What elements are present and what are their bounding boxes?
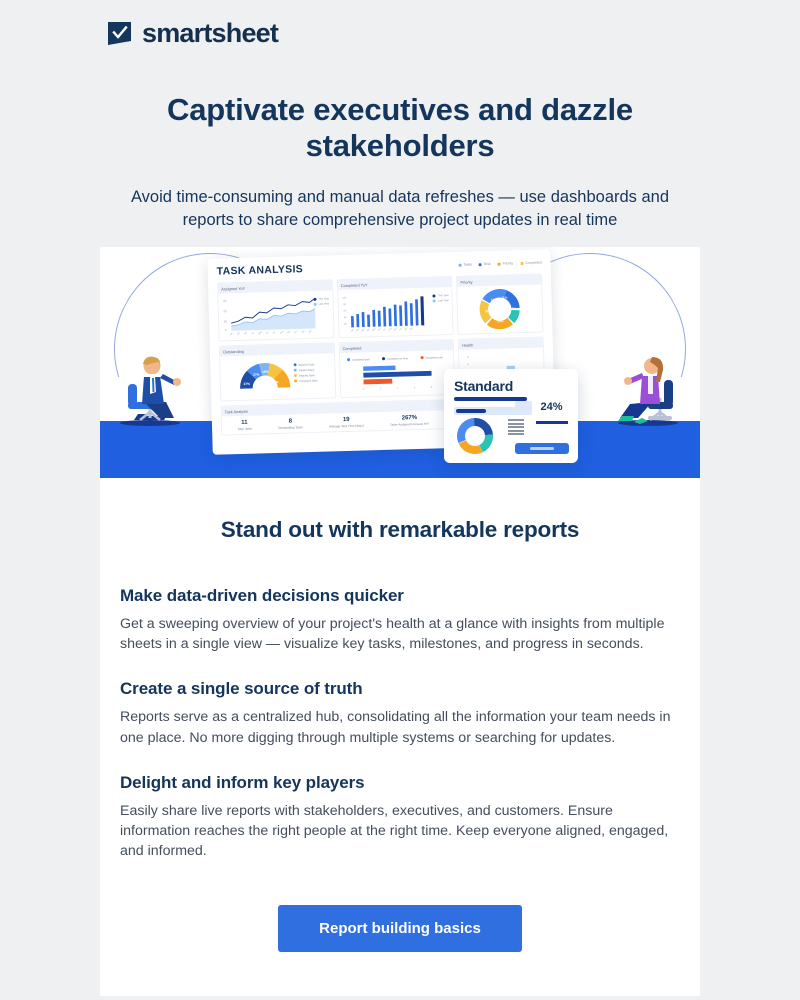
feature-body: Reports serve as a centralized hub, cons… — [120, 707, 680, 747]
svg-text:0: 0 — [225, 328, 227, 332]
stat-label: Total Tasks — [237, 427, 252, 431]
checkmark-flag-icon — [106, 20, 133, 47]
seated-businessman-illustration — [114, 340, 192, 431]
svg-text:Feb: Feb — [356, 328, 360, 333]
svg-text:Completed Tasks: Completed Tasks — [299, 379, 318, 383]
legend-item: Priority — [498, 261, 514, 265]
panel-completed: Completed Completed Early Completed on T… — [338, 339, 455, 398]
stat-value: 19 — [329, 417, 364, 424]
panel-outstanding: Outstanding 27% 27% — [219, 342, 336, 401]
svg-text:17%: 17% — [491, 298, 498, 302]
series-legend: This Year Last Year — [313, 297, 329, 305]
stat-label: Outstanding Tasks — [278, 425, 303, 430]
legend-item: Completed — [520, 260, 542, 265]
feature-item: Create a single source of truth Reports … — [120, 679, 680, 747]
feature-body: Easily share live reports with stakehold… — [120, 801, 680, 862]
svg-text:Feb: Feb — [237, 331, 241, 336]
stat-outstanding-tasks: 8 Outstanding Tasks — [278, 418, 303, 430]
svg-text:Apr: Apr — [366, 328, 370, 333]
legend-item: Risk — [479, 262, 491, 266]
legend-label: Completed — [525, 260, 542, 264]
legend-item: This Year — [313, 297, 329, 300]
hero-subtitle: Avoid time-consuming and manual data ref… — [106, 186, 694, 232]
standard-report-card: Standard 24% — [444, 369, 578, 463]
stat-tasks-assigned-increase: 267% Tasks Assigned Increase YoY — [390, 415, 429, 427]
svg-text:Oct: Oct — [398, 327, 403, 332]
metric-underline — [536, 421, 568, 424]
svg-text:6: 6 — [468, 363, 470, 366]
svg-text:Jun: Jun — [266, 331, 270, 335]
legend-label: This Year — [318, 297, 329, 300]
svg-text:0: 0 — [363, 389, 365, 391]
svg-text:Dec: Dec — [410, 327, 414, 331]
svg-text:Jan: Jan — [350, 329, 354, 333]
stat-value: 267% — [390, 415, 429, 422]
stat-label: Tasks Assigned Increase YoY — [390, 422, 429, 427]
svg-text:80: 80 — [223, 299, 227, 303]
panel-assigned-yoy: Assigned YoY 80 60 30 0 — [217, 279, 334, 341]
feature-body: Get a sweeping overview of your project'… — [120, 614, 680, 654]
svg-text:Aug: Aug — [387, 327, 392, 332]
svg-text:Completed Late: Completed Late — [425, 356, 443, 359]
stat-value: 8 — [278, 418, 303, 425]
svg-text:80: 80 — [343, 303, 346, 306]
legend-label: Risk — [484, 262, 491, 266]
svg-text:100: 100 — [342, 296, 347, 299]
svg-text:8: 8 — [468, 356, 470, 359]
svg-text:8: 8 — [431, 387, 433, 389]
svg-text:18%: 18% — [262, 370, 269, 374]
svg-text:30: 30 — [224, 319, 228, 323]
brand-name: smartsheet — [142, 18, 278, 49]
stat-average-task-time: 19 Average Task Time (days) — [329, 417, 364, 429]
svg-text:Ongoing Tasks: Ongoing Tasks — [299, 374, 316, 377]
svg-text:27%: 27% — [244, 382, 251, 386]
metric-value: 24% — [540, 401, 562, 413]
dashboard-legend: Tasks Risk Priority Completed — [458, 260, 541, 266]
stat-label: Average Task Time (days) — [329, 424, 364, 429]
svg-text:Completed Early: Completed Early — [352, 358, 371, 362]
svg-text:Mar: Mar — [244, 332, 248, 336]
feature-heading: Delight and inform key players — [120, 773, 680, 793]
svg-text:6: 6 — [414, 387, 416, 389]
metric-block: 24% — [515, 401, 569, 424]
legend-label: This Year — [438, 294, 449, 297]
series-legend: This Year Last Year — [433, 294, 449, 302]
donut-icon — [453, 414, 497, 458]
line-chart: 80 60 30 0 Jan Feb Mar — [218, 290, 333, 340]
svg-text:Planned Tasks: Planned Tasks — [299, 363, 315, 366]
feature-item: Delight and inform key players Easily sh… — [120, 773, 680, 862]
svg-text:40: 40 — [343, 316, 346, 319]
svg-text:Jun: Jun — [377, 328, 381, 332]
half-donut-chart: 27% 27% 18% 27% Planned Tasks Initiated … — [220, 353, 335, 400]
feature-item: Make data-driven decisions quicker Get a… — [120, 586, 680, 654]
svg-text:11%: 11% — [502, 296, 508, 300]
svg-text:Jul: Jul — [383, 328, 387, 332]
feature-list: Make data-driven decisions quicker Get a… — [120, 586, 680, 861]
svg-text:4: 4 — [397, 388, 399, 390]
hero-section: Captivate executives and dazzle stakehol… — [0, 66, 800, 232]
feature-heading: Make data-driven decisions quicker — [120, 586, 680, 606]
svg-text:2: 2 — [380, 388, 382, 390]
svg-text:Completed on Time: Completed on Time — [387, 357, 409, 361]
svg-text:60: 60 — [224, 309, 228, 313]
svg-text:Initiated Tasks: Initiated Tasks — [299, 369, 315, 372]
stat-total-tasks: 11 Total Tasks — [237, 420, 252, 431]
svg-text:20: 20 — [344, 323, 347, 326]
content-body: Stand out with remarkable reports Make d… — [100, 517, 700, 952]
hero-title: Captivate executives and dazzle stakehol… — [70, 92, 730, 164]
panel-task-analysis-stats: Task Analysis 11 Total Tasks 8 Outstandi… — [220, 399, 445, 435]
svg-text:Jan: Jan — [230, 332, 234, 336]
svg-text:Nov: Nov — [302, 330, 306, 334]
content-card: TASK ANALYSIS Tasks Risk Priority Comple… — [100, 247, 700, 996]
cta-container: Report building basics — [120, 905, 680, 952]
panel-priority: Priority 17% 11% — [456, 273, 543, 334]
legend-item: This Year — [433, 294, 449, 297]
panel-completed-yoy: Completed YoY 100 80 60 40 20 — [337, 276, 454, 338]
smartsheet-logo[interactable]: smartsheet — [106, 18, 278, 49]
svg-text:May: May — [372, 328, 376, 332]
report-building-basics-button[interactable]: Report building basics — [278, 905, 522, 952]
svg-text:Mar: Mar — [361, 328, 365, 332]
seated-businesswoman-illustration — [608, 340, 686, 431]
svg-text:Sep: Sep — [393, 327, 397, 332]
legend-label: Tasks — [463, 262, 472, 266]
svg-text:May: May — [259, 331, 263, 335]
section-title: Stand out with remarkable reports — [120, 517, 680, 543]
horizontal-bar-chart: Completed Early Completed on Time Comple… — [340, 350, 455, 397]
email-page: smartsheet Captivate executives and dazz… — [0, 0, 800, 1000]
legend-item: Tasks — [458, 262, 472, 266]
hero-illustration: TASK ANALYSIS Tasks Risk Priority Comple… — [100, 247, 700, 478]
stat-value: 11 — [237, 420, 252, 426]
legend-label: Priority — [503, 261, 514, 265]
svg-text:Dec: Dec — [309, 330, 313, 334]
svg-text:Apr: Apr — [251, 331, 255, 336]
bar-chart: 100 80 60 40 20 — [338, 287, 453, 337]
feature-heading: Create a single source of truth — [120, 679, 680, 699]
svg-text:Sep: Sep — [287, 330, 291, 335]
svg-text:Aug: Aug — [279, 330, 284, 335]
brand-header: smartsheet — [0, 0, 800, 66]
dashboard-panels-row-1: Assigned YoY 80 60 30 0 — [217, 273, 544, 341]
svg-text:60: 60 — [343, 310, 346, 313]
dashboard-title: TASK ANALYSIS — [217, 263, 304, 277]
legend-item: Last Year — [313, 302, 329, 305]
card-action-button[interactable] — [515, 443, 569, 454]
svg-text:Oct: Oct — [294, 330, 299, 335]
svg-text:27%: 27% — [253, 373, 260, 377]
legend-label: Last Year — [438, 299, 449, 302]
legend-item: Last Year — [433, 299, 449, 302]
svg-text:22%: 22% — [510, 307, 517, 311]
svg-text:30%: 30% — [485, 309, 492, 313]
standard-card-title: Standard — [454, 378, 568, 394]
legend-label: Last Year — [318, 302, 329, 305]
donut-chart: 17% 11% 22% 20% 30% — [458, 285, 543, 334]
svg-text:Jul: Jul — [273, 331, 277, 335]
svg-text:Nov: Nov — [404, 327, 408, 331]
metric-placeholder — [515, 401, 532, 415]
svg-text:20%: 20% — [497, 319, 504, 323]
svg-text:27%: 27% — [272, 380, 279, 384]
